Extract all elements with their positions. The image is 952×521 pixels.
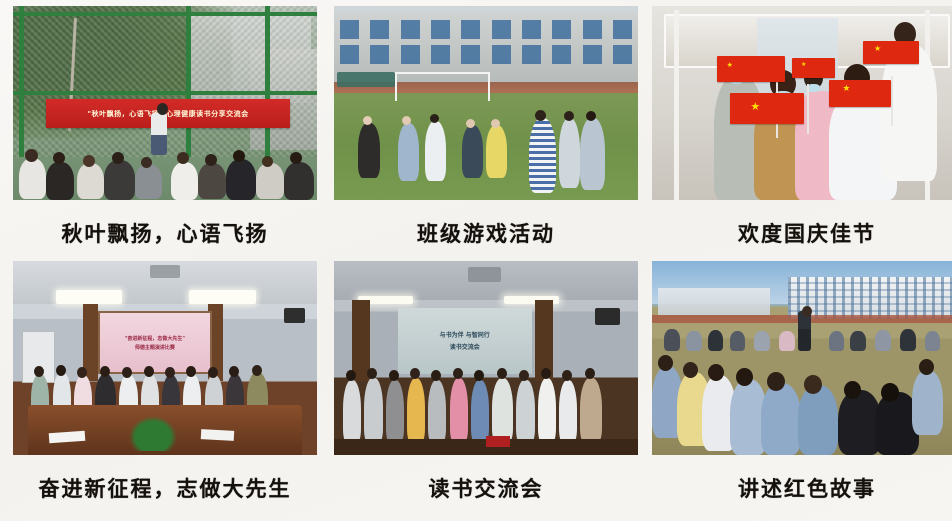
potted-plant [129,416,178,451]
crowd-figure [19,158,46,199]
seated-figure [761,383,801,455]
crowd-head [83,155,95,167]
window [492,20,511,39]
photo-field-circle-storytelling[interactable] [652,261,952,455]
person-figure [516,380,534,444]
paper-on-table [201,429,235,440]
window [401,20,420,39]
person-head [474,370,484,381]
person-figure [492,378,513,443]
red-bag-on-floor [486,436,510,448]
red-banner: "秋叶飘扬，心语飞扬" 心理健康读书分享交流会 [46,99,289,128]
person-head [100,366,110,377]
fence-rail-mid [13,91,317,95]
photo-outdoor-banner-reading-session[interactable]: "秋叶飘扬，心语飞扬" 心理健康读书分享交流会 [13,6,317,200]
student-figure [559,118,580,188]
caption-2: 班级游戏活动 [417,218,555,248]
person-figure [559,380,577,444]
student-figure [425,121,446,181]
crowd-head [141,157,152,168]
window [340,20,359,39]
gallery-item-5[interactable]: 与书为伴 与智同行 读书交流会 [331,261,641,514]
seated-head [767,372,785,391]
person-figure [407,378,425,443]
window [613,45,632,64]
gallery-item-6[interactable]: 讲述红色故事 [652,261,952,514]
photo-gallery: "秋叶飘扬，心语飞扬" 心理健康读书分享交流会 [0,0,952,521]
student-head [491,119,500,128]
student-head [586,111,596,121]
crowd-figure [226,159,256,200]
crowd-figure [256,163,283,199]
window [370,45,389,64]
white-school-building [788,277,952,320]
flag-star-large: ★ [874,45,881,53]
window [461,45,480,64]
crowd-figure [284,162,314,200]
gallery-item-3[interactable]: ★ ★ ★ ★ ★ 欢度国庆佳节 [652,6,952,259]
gallery-item-2[interactable]: 班级游戏活动 [331,6,641,259]
window-row-middle [340,45,632,64]
screen-line-2: 读书交流会 [450,342,480,351]
window [522,45,541,64]
window [613,20,632,39]
caption-1: 秋叶飘扬，心语飞扬 [62,218,269,248]
seated-crowd [13,134,317,200]
crowd-figure [198,163,225,199]
photo-dormitory-national-day-flags[interactable]: ★ ★ ★ ★ ★ [652,6,952,200]
row-of-people [334,362,638,443]
window [583,20,602,39]
student-head [564,111,574,121]
screen-line-2: 师德主题演讲比赛 [135,344,175,351]
student-figure [462,125,483,178]
window [583,45,602,64]
crowd-figure [104,160,134,200]
standing-speaker-head [802,306,812,317]
person-head [453,368,463,379]
window [431,20,450,39]
window [552,20,571,39]
gallery-item-1[interactable]: "秋叶飘扬，心语飞扬" 心理健康读书分享交流会 [10,6,320,259]
student-figure [486,125,507,178]
window [552,45,571,64]
ceiling-projector [468,267,501,283]
crowd-head [290,152,302,164]
crowd-head [112,152,124,164]
person-figure [364,378,382,443]
student-figure [580,118,604,190]
flag-star-large: ★ [801,62,806,68]
flag-star-large: ★ [727,62,733,69]
wall-speaker-right [284,308,305,324]
crowd-head [205,154,217,166]
seated-head [919,359,934,375]
person-head [431,370,441,381]
person-figure [471,380,489,444]
seated-head [683,362,698,378]
person-head [497,368,507,379]
distant-buildings [658,288,770,315]
person-figure [580,378,601,443]
flag-pole [891,76,893,126]
ceiling-lamp-left [56,290,123,304]
photo-playground-class-games[interactable] [334,6,638,200]
screen-line-1: 与书为伴 与智同行 [440,330,490,339]
crowd-head [25,149,38,162]
wall-speaker [595,308,619,325]
photo-conference-room-group-photo[interactable]: "奋进新征程，志做大先生" 师德主题演讲比赛 [13,261,317,455]
person-head [252,365,262,376]
chinese-flag: ★ [792,58,835,77]
person-head [229,366,239,377]
chinese-flag: ★ [863,41,919,64]
window [401,45,420,64]
students-playing [334,80,638,200]
flag-star-large: ★ [750,101,760,112]
building-windows [788,277,952,320]
person-head [389,370,399,381]
person-head [77,367,87,378]
person-head [144,366,154,377]
person-head [346,370,356,381]
window [522,20,541,39]
seated-figure [798,385,838,455]
person-figure [343,380,361,444]
crowd-figure [46,162,73,200]
window [492,45,511,64]
seated-circle-near [652,346,952,455]
ceiling-projector [150,265,180,279]
gallery-item-4[interactable]: "奋进新征程，志做大先生" 师德主题演讲比赛 [10,261,320,514]
person-figure [386,380,404,444]
chinese-flag: ★ [717,56,785,81]
crowd-head [53,152,65,164]
screen-line-1: "奋进新征程，志做大先生" [125,335,185,342]
window [340,45,359,64]
person-head [562,370,572,381]
ceiling-lamp-right [189,290,256,304]
caption-3: 欢度国庆佳节 [738,218,876,248]
person-figure [538,378,556,443]
crowd-figure [171,162,198,200]
window [370,20,389,39]
seated-head [708,364,724,381]
caption-4: 奋进新征程，志做大先生 [39,473,292,503]
person-head [208,367,218,378]
person-head [56,365,66,376]
caption-6: 讲述红色故事 [738,473,876,503]
crowd-figure [77,163,104,199]
flag-star-large: ★ [842,85,850,94]
student-figure [529,118,556,193]
person-figure [428,380,446,444]
window-row-top [340,20,632,39]
banner-text: "秋叶飘扬，心语飞扬" 心理健康读书分享交流会 [46,99,289,128]
seated-figure [912,370,943,435]
student-figure [358,123,379,178]
seated-head [736,368,753,386]
window [461,20,480,39]
photo-auditorium-reading-exchange[interactable]: 与书为伴 与智同行 读书交流会 [334,261,638,455]
student-head [535,110,546,121]
person-figure [450,378,468,443]
student-figure [398,123,419,181]
window [431,45,450,64]
crowd-figure [135,164,162,198]
chinese-flag: ★ [829,80,891,107]
chinese-flag: ★ [730,93,804,124]
seated-head [804,375,822,394]
fence-rail-top [13,12,317,16]
flag-pole [807,84,809,134]
student-head [430,114,439,123]
caption-5: 读书交流会 [429,473,544,503]
